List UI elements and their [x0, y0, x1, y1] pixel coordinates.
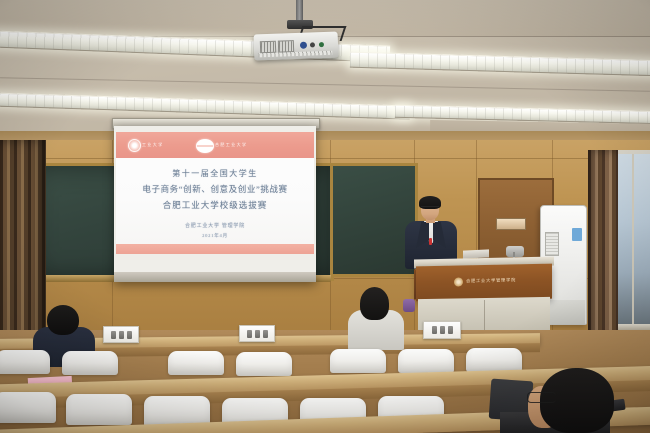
namecard	[239, 325, 275, 342]
university-logo-icon	[196, 139, 214, 153]
lecture-hall-photo: 工业大学 合肥工业大学 第十一届全国大学生 电子商务“创新、创意及创业”挑战赛 …	[0, 0, 650, 433]
namecard-glyph	[127, 331, 132, 339]
namecard-glyph	[448, 326, 453, 334]
projector-icon	[254, 32, 339, 61]
ceiling-light-row-1b	[350, 52, 650, 77]
slide-logo-text-left: 工业大学	[142, 142, 164, 148]
chair[interactable]	[62, 351, 118, 375]
slide-footer-band	[116, 244, 314, 254]
podium: 合肥工业大学管理学院	[416, 264, 552, 302]
speaker-badge	[429, 238, 432, 245]
namecard-glyph	[432, 326, 437, 334]
purple-bag	[403, 299, 415, 312]
chair[interactable]	[66, 394, 132, 425]
window-mullion	[632, 154, 634, 324]
audience-front-left-head	[47, 305, 79, 335]
slide-line-4: 合肥工业大学 管理学院	[116, 222, 314, 229]
ceiling-light-row-2	[0, 92, 410, 119]
podium-base-seam	[484, 300, 485, 332]
audience-foreground-right-glasses-icon	[527, 392, 556, 403]
presentation-slide: 工业大学 合肥工业大学 第十一届全国大学生 电子商务“创新、创意及创业”挑战赛 …	[116, 132, 314, 254]
chair[interactable]	[0, 392, 56, 423]
projection-screen-weight-bar	[114, 272, 316, 282]
namecard-glyph	[263, 330, 268, 338]
curtain-left	[0, 140, 46, 350]
chair[interactable]	[0, 350, 50, 374]
namecard	[423, 321, 461, 339]
namecard-glyph	[255, 330, 260, 338]
door-nameplate	[496, 218, 526, 230]
projection-screen: 工业大学 合肥工业大学 第十一届全国大学生 电子商务“创新、创意及创业”挑战赛 …	[114, 126, 316, 282]
slide-line-3: 合肥工业大学校级选拔赛	[116, 199, 314, 211]
namecard-glyph	[440, 326, 445, 334]
speaker-glasses-icon	[421, 206, 439, 211]
slide-line-2: 电子商务“创新、创意及创业”挑战赛	[116, 183, 314, 195]
namecard-glyph	[119, 331, 124, 339]
curtain-right	[588, 150, 618, 340]
chair[interactable]	[168, 351, 224, 375]
audience-front-center-head	[360, 287, 389, 320]
ceiling	[0, 0, 650, 150]
microphone-icon	[506, 246, 524, 257]
slide-line-5: 2021年4月	[116, 233, 314, 239]
namecard	[103, 326, 139, 343]
chair[interactable]	[236, 352, 292, 376]
slide-header-band: 工业大学 合肥工业大学	[116, 132, 314, 158]
podium-crest-icon	[454, 277, 463, 286]
namecard-glyph	[247, 330, 252, 338]
chair[interactable]	[466, 348, 522, 372]
university-seal-icon	[128, 139, 141, 152]
ac-label-sticker	[572, 228, 582, 241]
podium-engraving: 合肥工业大学管理学院	[466, 277, 516, 284]
chair[interactable]	[398, 349, 454, 373]
namecard-glyph	[111, 331, 116, 339]
slide-logo-text-right: 合肥工业大学	[215, 142, 247, 148]
ac-grille-icon	[545, 232, 559, 256]
chair[interactable]	[330, 349, 386, 373]
slide-line-1: 第十一届全国大学生	[116, 168, 314, 179]
